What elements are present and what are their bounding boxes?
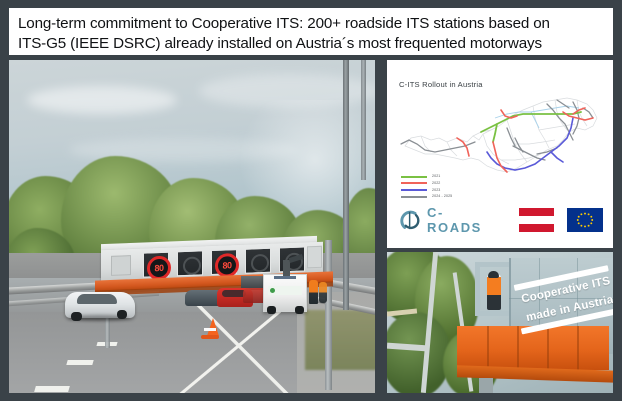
vms-panel: 80: [143, 252, 169, 278]
slide-root: Long-term commitment to Cooperative ITS:…: [0, 0, 622, 401]
road-worker: [319, 282, 327, 303]
legend-item: 2023: [401, 187, 452, 193]
speed-limit-sign: 80: [215, 252, 239, 277]
speed-limit-sign: 80: [147, 255, 171, 280]
vms-panel: [177, 250, 203, 276]
slide-title-box: Long-term commitment to Cooperative ITS:…: [9, 8, 613, 55]
panel-divider-vertical: [375, 60, 387, 393]
legend-label-2024-2025: 2024 - 2025: [432, 194, 452, 199]
car-wheel: [117, 310, 127, 319]
truck-wheel: [295, 306, 304, 314]
austria-flag-icon: [519, 208, 554, 232]
legend-label-2022: 2022: [432, 181, 440, 186]
gantry-support-post: [325, 240, 332, 390]
legend-swatch-2022: [401, 182, 427, 184]
roadside-its-station-installation-photo: Cooperative ITS made in Austria: [387, 252, 613, 393]
vms-panel: 80: [211, 249, 237, 275]
brand-logo-row: C-ROADS: [399, 202, 603, 238]
legend-swatch-2023: [401, 189, 427, 191]
gantry-mast: [343, 60, 349, 310]
european-union-flag-icon: [567, 208, 603, 232]
traffic-cone: [207, 318, 219, 336]
legend-swatch-2024-2025: [401, 196, 427, 198]
legend-item: 2024 - 2025: [401, 194, 452, 200]
car-wheel: [71, 312, 82, 321]
lane-marking-edge: [191, 298, 341, 393]
worker-helmet: [488, 271, 499, 278]
c-roads-label: C-ROADS: [427, 205, 497, 235]
truck-wheel: [267, 306, 276, 314]
truck-logo: [268, 286, 302, 295]
platform-rib: [487, 326, 489, 370]
austria-map: [387, 88, 613, 182]
legend-label-2021: 2021: [432, 174, 440, 179]
map-legend: 2021 2022 2023 2024 - 2025: [401, 174, 452, 201]
page-title-line-2: ITS-G5 (IEEE DSRC) already installed on …: [18, 34, 605, 54]
cloud: [27, 86, 177, 114]
lane-dash: [34, 386, 70, 392]
vms-dim-symbol: [183, 256, 201, 275]
technician-worker: [487, 274, 501, 310]
gantry-mast: [361, 60, 366, 180]
motorway-gantry-photo: 80 80: [9, 60, 375, 393]
vms-dim-symbol: [251, 253, 269, 272]
gantry-side-box: [111, 255, 131, 276]
traffic-cone-base: [201, 335, 219, 339]
road-worker: [309, 280, 318, 304]
panel-divider-horizontal: [387, 248, 613, 252]
gantry-side-box: [307, 246, 322, 269]
vms-panel: [245, 248, 271, 274]
c-roads-logo: C-ROADS: [399, 205, 497, 235]
legend-item: 2021: [401, 174, 452, 180]
traffic-cone-band: [204, 328, 216, 331]
gantry-post: [479, 378, 493, 393]
legend-swatch-2021: [401, 176, 427, 178]
legend-label-2023: 2023: [432, 188, 440, 193]
c-its-rollout-map-panel: C-ITS Rollout in Austria: [387, 60, 613, 248]
truck-label: [274, 276, 296, 279]
legend-item: 2022: [401, 181, 452, 187]
page-title-line-1: Long-term commitment to Cooperative ITS:…: [18, 14, 605, 34]
lane-dash: [66, 360, 93, 365]
c-roads-icon: [399, 209, 421, 232]
